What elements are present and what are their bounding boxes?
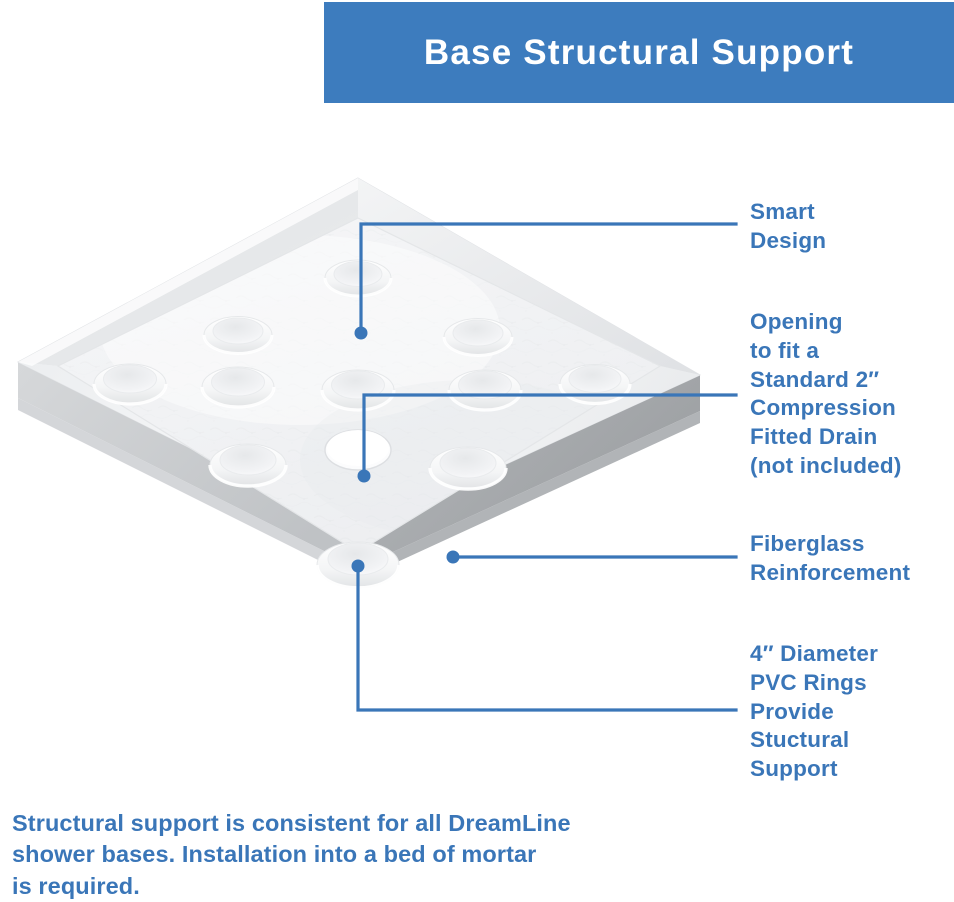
callout-label-fiberglass-reinforcement: Fiberglass Reinforcement bbox=[750, 530, 910, 588]
page-title: Base Structural Support bbox=[424, 35, 854, 70]
callout-label-pvc-rings: 4″ Diameter PVC Rings Provide Stuctural … bbox=[750, 640, 878, 784]
pvc-ring bbox=[204, 317, 272, 354]
pvc-ring bbox=[322, 370, 394, 410]
shower-base-drawing bbox=[0, 160, 720, 760]
pvc-ring bbox=[317, 542, 399, 588]
pvc-ring bbox=[202, 367, 274, 407]
pvc-ring bbox=[210, 444, 286, 486]
pvc-ring bbox=[560, 365, 630, 404]
header-banner: Base Structural Support bbox=[324, 2, 954, 103]
pvc-ring bbox=[94, 364, 166, 404]
drain-opening bbox=[325, 430, 391, 470]
infographic-root: Base Structural Support bbox=[0, 0, 954, 900]
product-illustration-shower-base bbox=[0, 160, 720, 760]
pvc-ring bbox=[430, 447, 506, 489]
pvc-ring bbox=[449, 370, 521, 410]
pvc-ring bbox=[444, 319, 512, 356]
callout-label-drain-opening: Opening to fit a Standard 2″ Compression… bbox=[750, 308, 902, 481]
callout-label-smart-design: Smart Design bbox=[750, 198, 826, 256]
footer-caption: Structural support is consistent for all… bbox=[12, 808, 632, 902]
pvc-ring bbox=[325, 260, 391, 296]
